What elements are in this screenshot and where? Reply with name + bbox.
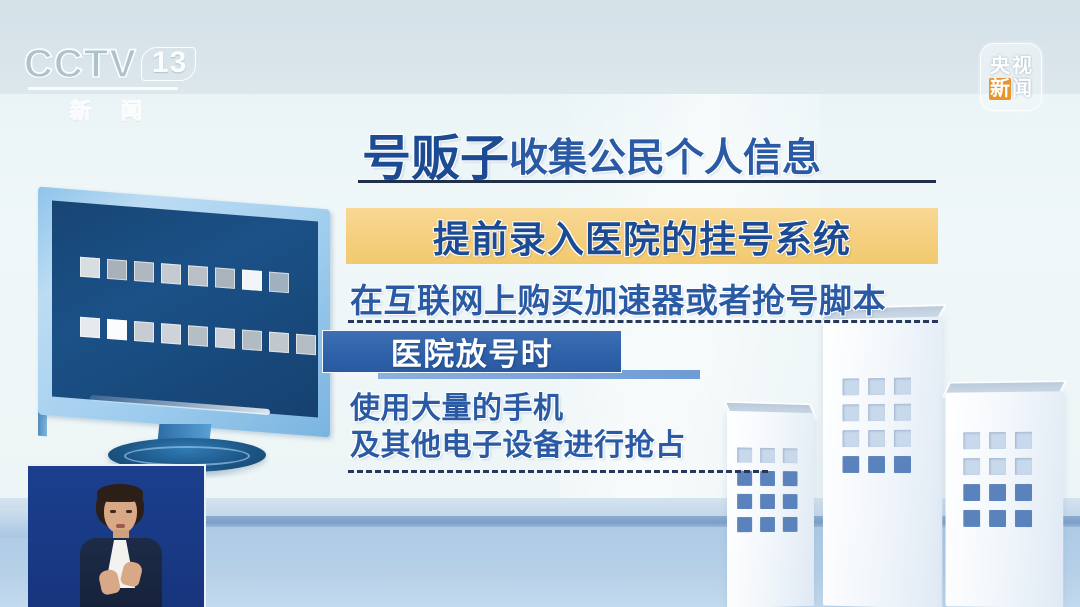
building-window-grid (963, 432, 1032, 527)
broadcast-screen: CCTV 13 新 闻 央 视 新 闻 (0, 0, 1080, 607)
building-window (737, 494, 752, 509)
interpreter-eye-right (126, 510, 132, 513)
cctv-news-badge-highlight: 新 (989, 78, 1011, 100)
building-right-mid-rise (946, 391, 1064, 607)
cctv-logo-text: CCTV (24, 44, 137, 84)
headline-line-6: 及其他电子设备进行抢占 (350, 427, 686, 464)
headline-line-4: 医院放号时 (322, 330, 622, 373)
building-window (989, 484, 1006, 501)
monitor-screen-tile (269, 272, 289, 294)
building-window (963, 484, 980, 501)
monitor-stand-base-ring (124, 446, 250, 466)
interpreter-hair-fringe (97, 484, 143, 502)
cctv-news-badge-line1-a: 央 (989, 55, 1011, 77)
monitor-screen-tile (107, 259, 127, 281)
cctv-news-badge: 央 视 新 闻 (980, 43, 1042, 111)
headline-line-3: 在互联网上购买加速器或者抢号脚本 (350, 274, 886, 322)
monitor-screen-tile (188, 265, 208, 287)
monitor-screen-tile (296, 334, 316, 356)
building-window (1015, 510, 1032, 527)
monitor-screen-tile (242, 329, 262, 351)
sign-language-interpreter-inset (28, 464, 206, 607)
monitor-screen-tile (161, 323, 181, 345)
building-window (963, 432, 980, 449)
cctv-news-badge-line2-rest: 闻 (1011, 78, 1033, 100)
building-window (868, 430, 885, 447)
monitor-screen-tile (269, 332, 289, 354)
cctv-logo-underline (28, 87, 178, 90)
headline-line-2: 提前录入医院的挂号系统 (346, 208, 938, 264)
headline-rule-dashed-2 (348, 470, 768, 473)
building-window (842, 456, 859, 473)
building-window (989, 458, 1006, 475)
monitor-screen-tile (80, 317, 100, 339)
building-window (783, 471, 798, 486)
headline-rule-solid (358, 180, 936, 183)
building-window (868, 456, 885, 473)
building-window (868, 404, 885, 421)
monitor-screen-tile (161, 263, 181, 285)
building-window (760, 517, 775, 532)
monitor-screen-tile (215, 267, 235, 289)
building-window-grid (842, 378, 910, 473)
building-window (1015, 484, 1032, 501)
headline-line-1-emphasis: 号贩子 (362, 134, 509, 184)
building-window (760, 471, 775, 486)
building-window (1015, 432, 1032, 449)
building-window (868, 378, 885, 395)
building-window (842, 378, 859, 395)
background-left-ledge (0, 508, 28, 538)
monitor-screen-tile (242, 269, 262, 291)
building-center-high-rise (823, 316, 942, 607)
building-window (737, 517, 752, 532)
building-window (894, 404, 911, 421)
building-window (737, 447, 752, 462)
monitor-screen-tile (215, 327, 235, 349)
interpreter-figure (28, 466, 204, 607)
building-window (842, 430, 859, 447)
headline-rule-dashed-1 (348, 320, 938, 323)
building-window (760, 448, 775, 463)
building-window (842, 404, 859, 421)
headline-text-block: 号贩子 收集公民个人信息 提前录入医院的挂号系统 在互联网上购买加速器或者抢号脚… (320, 120, 940, 184)
building-window (1015, 458, 1032, 475)
monitor-screen-tile-row-1 (80, 257, 289, 293)
building-window (963, 510, 980, 527)
headline-line-5: 使用大量的手机 (350, 390, 686, 427)
cctv-news-badge-line1-b: 视 (1011, 55, 1033, 77)
building-left-low-rise (727, 411, 814, 607)
building-window (963, 458, 980, 475)
building-window (783, 517, 798, 532)
cctv-news-badge-row-1: 央 视 (989, 55, 1033, 77)
building-window (760, 494, 775, 509)
building-window (989, 510, 1006, 527)
interpreter-mouth (116, 524, 125, 528)
building-window-grid (737, 447, 797, 532)
cctv-channel-number: 13 (141, 47, 196, 81)
building-window (783, 494, 798, 509)
building-window (894, 378, 911, 395)
cctv-logo-subtitle: 新 闻 (70, 95, 224, 125)
monitor-screen-tile (188, 325, 208, 347)
headline-line-1-rest: 收集公民个人信息 (509, 137, 821, 181)
monitor-screen (52, 201, 318, 418)
monitor-screen-tile (134, 261, 154, 283)
monitor-screen-tile (134, 321, 154, 343)
interpreter-eye-left (110, 510, 116, 513)
building-window (783, 448, 798, 463)
monitor-screen-tile (107, 319, 127, 341)
monitor-screen-tile-row-2 (80, 317, 318, 358)
cctv-logo-main: CCTV 13 (24, 44, 224, 84)
building-window (989, 432, 1006, 449)
headline-line-1: 号贩子 收集公民个人信息 (320, 120, 940, 184)
cctv-13-watermark: CCTV 13 新 闻 (24, 44, 224, 118)
building-window (894, 430, 911, 447)
city-buildings-illustration (745, 300, 1080, 607)
monitor-screen-tile (80, 257, 100, 279)
cctv-news-badge-row-2: 新 闻 (989, 78, 1033, 100)
headline-lines-5-6: 使用大量的手机 及其他电子设备进行抢占 (350, 390, 686, 464)
desktop-monitor-illustration (30, 198, 340, 473)
building-window (894, 456, 911, 473)
